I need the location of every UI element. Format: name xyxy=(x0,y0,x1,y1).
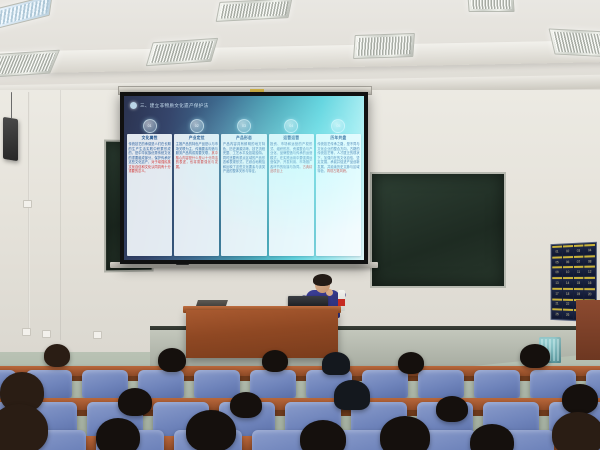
seat-number-cell: 02 xyxy=(563,245,573,255)
slide-column-05: 05历年共盘传统技艺传承之路，是不同与文化企业的整合方向，古籍的传统技艺等，人才… xyxy=(316,117,361,256)
seat[interactable] xyxy=(250,370,296,398)
student-head xyxy=(380,416,430,450)
seat-number-cell: 12 xyxy=(585,266,595,276)
seat[interactable] xyxy=(474,370,520,398)
column-body: 产品内容具有鲜明的地方特色，历史渊源清晰，技艺流程完整、工艺水平及技能独特。同时… xyxy=(223,142,265,174)
column-title: 文化属性 xyxy=(129,136,171,141)
slide-column-04: 04运营运营投资、市场和运营的产权形式、组织形态、资源整合与产业化、品牌塑造与传… xyxy=(269,117,314,256)
student-head xyxy=(322,352,350,375)
seat-number-cell: 06 xyxy=(563,256,573,266)
wall-seam xyxy=(60,90,61,340)
column-card: 产业定位主推产品的特色产品是以与市场关联为主，传播要素构造与服务产品构成需要关联… xyxy=(174,134,219,256)
seat-number-cell: 16 xyxy=(585,277,595,287)
badge-wrap: 03 xyxy=(221,117,266,134)
student-head xyxy=(562,384,598,414)
seat-number-cell: 26 xyxy=(563,309,573,319)
column-body: 投资、市场和运营的产权形式、组织形态、资源整合与产业化、品牌塑造与传承的运营模式… xyxy=(270,142,312,174)
student-head xyxy=(158,348,186,372)
seat-number-cell: 19 xyxy=(573,288,583,298)
slide-columns: 01文化属性传统技艺的承载是人们在长期的生产生活实践中积累形成的，是中华民族优秀… xyxy=(127,117,361,256)
seat-number-cell: 22 xyxy=(563,298,573,308)
ceiling-light-icon xyxy=(216,0,293,22)
slide-title: 三、建立非物质文化遗产保护法 xyxy=(140,103,209,109)
column-badge: 03 xyxy=(237,119,251,133)
seat-number-cell: 05 xyxy=(552,256,562,266)
column-highlight: 再现古籍风貌。 xyxy=(327,169,349,173)
seat-number-cell: 11 xyxy=(573,266,583,276)
wall-outlet[interactable] xyxy=(23,200,32,208)
seat-board-row: 01020304 xyxy=(552,244,595,256)
student-head xyxy=(118,388,152,416)
column-badge: 02 xyxy=(190,119,204,133)
seat[interactable] xyxy=(194,370,240,398)
wall-speaker-icon xyxy=(3,117,18,161)
ceiling-beam-front xyxy=(0,40,600,74)
seat-number-cell: 25 xyxy=(552,309,562,319)
ceiling xyxy=(0,0,600,96)
slide-header: 三、建立非物质文化遗产保护法 xyxy=(124,96,364,115)
column-body: 传统技艺传承之路，是不同与文化企业的整合方向，古籍的传统技艺等，人才匮乏的现状下… xyxy=(317,142,359,174)
student-head xyxy=(44,344,70,367)
column-body: 传统技艺的承载是人们在长期的生产生活实践中积累形成的，是中华民族优秀传统文化的重… xyxy=(129,142,171,174)
seat-number-cell: 21 xyxy=(552,298,562,308)
column-badge: 05 xyxy=(331,119,345,133)
ceiling-light-icon xyxy=(467,0,514,12)
projection-screen: 三、建立非物质文化遗产保护法 01文化属性传统技艺的承载是人们在长期的生产生活实… xyxy=(124,96,364,260)
student-head xyxy=(96,418,140,450)
seat-number-cell: 18 xyxy=(563,288,573,298)
ceiling-light-icon xyxy=(0,50,60,79)
seat-number-cell: 07 xyxy=(573,255,583,265)
ceiling-light-icon xyxy=(549,29,600,58)
badge-wrap: 01 xyxy=(127,117,172,134)
seat-board-row: 05060708 xyxy=(552,255,595,266)
seat-number-cell: 14 xyxy=(563,277,573,287)
seat-number-cell: 15 xyxy=(573,277,583,287)
column-highlight: 其中核心内容是什么是以十分简洁的表述，也将需要强化与发展。 xyxy=(176,151,218,169)
column-highlight: 古典精品项目上 xyxy=(270,165,312,174)
ceiling-light-icon xyxy=(146,38,219,66)
column-card: 历年共盘传统技艺传承之路，是不同与文化企业的整合方向，古籍的传统技艺等，人才匮乏… xyxy=(316,134,361,256)
slide-column-01: 01文化属性传统技艺的承载是人们在长期的生产生活实践中积累形成的，是中华民族优秀… xyxy=(127,117,172,256)
circle-bullet-icon xyxy=(130,102,137,109)
column-highlight: 对于增强民族文化自信和文化认同具有十分重要的意义。 xyxy=(129,160,171,173)
student-head xyxy=(230,392,262,418)
student-head xyxy=(520,344,550,368)
lecture-hall-photo: 0102030405060708091011121314151617181920… xyxy=(0,0,600,450)
seat-number-cell: 03 xyxy=(573,244,583,254)
column-card: 运营运营投资、市场和运营的产权形式、组织形态、资源整合与产业化、品牌塑造与传承的… xyxy=(269,134,314,256)
seat-number-cell: 08 xyxy=(585,255,595,265)
column-badge: 04 xyxy=(284,119,298,133)
column-badge: 01 xyxy=(143,119,157,133)
column-card: 文化属性传统技艺的承载是人们在长期的生产生活实践中积累形成的，是中华民族优秀传统… xyxy=(127,134,172,256)
student-head xyxy=(186,410,236,450)
wall-outlet[interactable] xyxy=(42,330,51,338)
seat-board-row: 13141516 xyxy=(552,277,595,287)
badge-wrap: 05 xyxy=(316,117,361,134)
badge-wrap: 02 xyxy=(174,117,219,134)
seat-number-cell: 09 xyxy=(552,267,562,277)
student-head xyxy=(334,380,370,410)
badge-wrap: 04 xyxy=(269,117,314,134)
student-head xyxy=(436,396,468,422)
column-title: 产业定位 xyxy=(176,136,218,141)
slide-column-02: 02产业定位主推产品的特色产品是以与市场关联为主，传播要素构造与服务产品构成需要… xyxy=(174,117,219,256)
seat-number-cell: 17 xyxy=(552,288,562,298)
student-head xyxy=(552,412,600,450)
student-head xyxy=(300,420,346,450)
seat-number-cell: 20 xyxy=(585,288,595,298)
column-title: 产品形态 xyxy=(223,136,265,141)
column-title: 运营运营 xyxy=(270,136,312,141)
slide-column-03: 03产品形态产品内容具有鲜明的地方特色，历史渊源清晰，技艺流程完整、工艺水平及技… xyxy=(221,117,266,256)
door-frame[interactable] xyxy=(576,300,600,360)
student-head xyxy=(262,350,288,372)
seat-number-cell: 04 xyxy=(585,244,595,254)
lectern xyxy=(186,310,338,358)
wall-outlet[interactable] xyxy=(93,331,102,339)
wall-outlet[interactable] xyxy=(22,328,31,336)
seat-number-cell: 01 xyxy=(552,246,562,256)
ceiling-light-icon xyxy=(0,0,53,30)
lecturer-hair xyxy=(313,274,332,286)
student-head xyxy=(398,352,424,374)
ceiling-light-icon xyxy=(353,33,415,59)
seat-board-row: 09101112 xyxy=(552,266,595,276)
wall-conduit xyxy=(28,92,30,332)
chalkboard-right xyxy=(370,172,506,288)
column-card: 产品形态产品内容具有鲜明的地方特色，历史渊源清晰，技艺流程完整、工艺水平及技能独… xyxy=(221,134,266,256)
seat-number-cell: 10 xyxy=(563,266,573,276)
presentation-slide: 三、建立非物质文化遗产保护法 01文化属性传统技艺的承载是人们在长期的生产生活实… xyxy=(124,96,364,260)
seat[interactable] xyxy=(418,370,464,398)
seat-number-cell: 13 xyxy=(552,277,562,287)
column-title: 历年共盘 xyxy=(317,136,359,141)
column-body: 主推产品的特色产品是以与市场关联为主，传播要素构造与服务产品构成需要关联，其中核… xyxy=(176,142,218,169)
seat-board-row: 17181920 xyxy=(552,288,595,298)
